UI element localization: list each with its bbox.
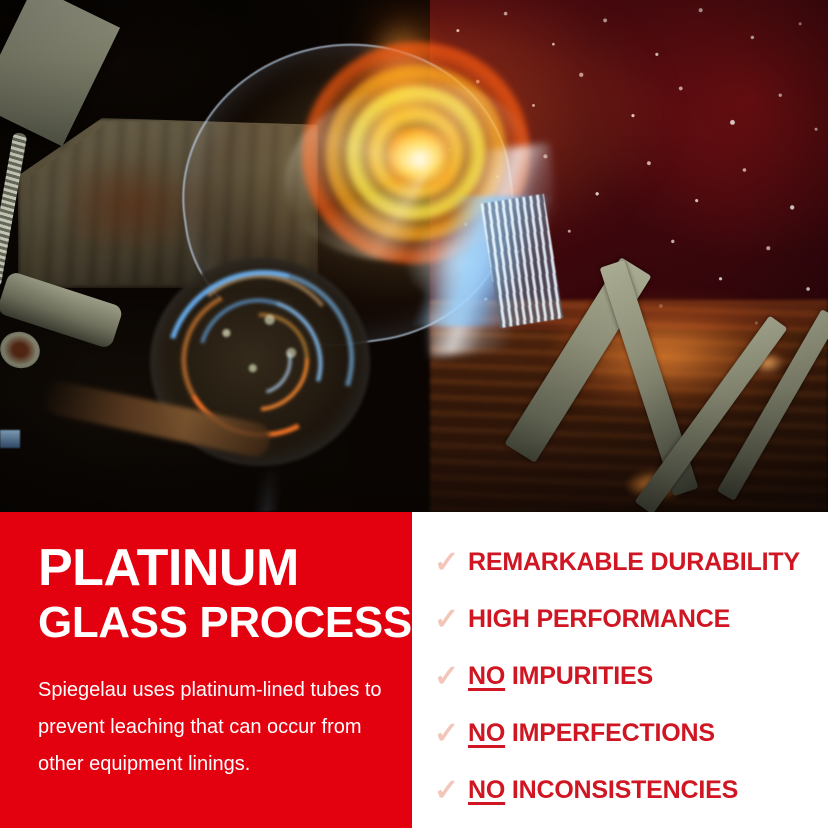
benefit-label: NO IMPURITIES [468,662,653,691]
benefit-label: NO IMPERFECTIONS [468,719,715,748]
photo-vignette [0,0,828,512]
benefit-body: IMPERFECTIONS [512,719,715,747]
benefit-body: REMARKABLE DURABILITY [468,548,800,576]
check-icon: ✓ [434,546,468,580]
benefits-list: ✓ REMARKABLE DURABILITY ✓ HIGH PERFORMAN… [434,534,828,819]
benefit-label: REMARKABLE DURABILITY [468,548,800,577]
list-item: ✓ NO IMPURITIES [434,648,828,705]
benefit-body: IMPURITIES [512,662,653,690]
list-item: ✓ REMARKABLE DURABILITY [434,534,828,591]
title-line-2: GLASS PROCESS [38,597,412,649]
list-item: ✓ NO IMPERFECTIONS [434,705,828,762]
check-icon: ✓ [434,774,468,808]
list-item: ✓ HIGH PERFORMANCE [434,591,828,648]
benefits-panel: ✓ REMARKABLE DURABILITY ✓ HIGH PERFORMAN… [412,512,828,828]
check-icon: ✓ [434,603,468,637]
benefit-label: NO INCONSISTENCIES [468,776,738,805]
benefit-body: HIGH PERFORMANCE [468,605,730,633]
headline-panel: PLATINUM GLASS PROCESS Spiegelau uses pl… [0,512,412,828]
poster: PLATINUM GLASS PROCESS Spiegelau uses pl… [0,0,828,828]
title-line-1: PLATINUM [38,539,412,597]
check-icon: ✓ [434,660,468,694]
list-item: ✓ NO INCONSISTENCIES [434,762,828,819]
page-title: PLATINUM GLASS PROCESS [38,539,412,649]
benefit-label: HIGH PERFORMANCE [468,605,730,634]
benefit-body: INCONSISTENCIES [512,776,738,804]
benefit-negation: NO [468,776,505,804]
check-icon: ✓ [434,717,468,751]
process-photo [0,0,828,512]
description-text: Spiegelau uses platinum-lined tubes to p… [38,672,394,783]
benefit-negation: NO [468,719,505,747]
benefit-negation: NO [468,662,505,690]
